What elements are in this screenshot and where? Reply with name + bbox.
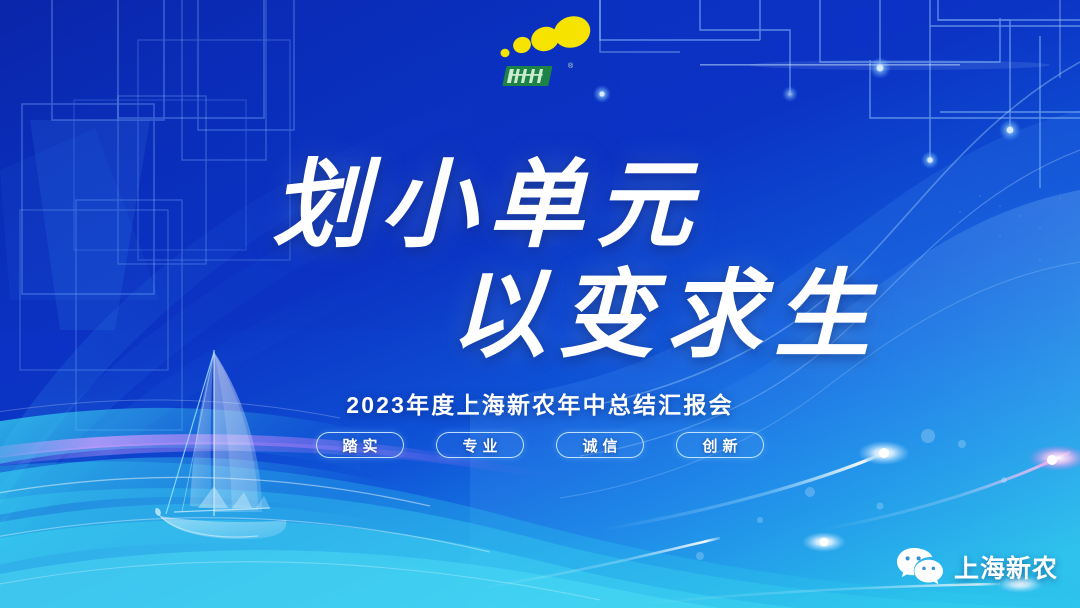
svg-text:®: ® xyxy=(568,62,574,70)
value-tag-3[interactable]: 创新 xyxy=(676,432,764,458)
value-tag-1[interactable]: 专业 xyxy=(436,432,524,458)
headline-line-1: 划小单元 xyxy=(272,158,704,254)
logo-wordmark: ® xyxy=(502,62,574,86)
event-subtitle: 2023年度上海新农年中总结汇报会 xyxy=(0,386,1080,420)
value-tag-0[interactable]: 踏实 xyxy=(316,432,404,458)
highlight-lines xyxy=(0,400,600,600)
wechat-account-footer[interactable]: 上海新农 xyxy=(895,546,1058,588)
shanghai-xinnong-logo: ® xyxy=(496,12,596,100)
logo-dots xyxy=(501,12,595,57)
wechat-account-name: 上海新农 xyxy=(954,549,1058,585)
value-tag-row: 踏实 专业 诚信 创新 xyxy=(0,432,1080,458)
headline-line-2: 以变求生 xyxy=(450,268,882,364)
poster-canvas: ® 划小单元 以变求生 2023年度上海新农年中总结汇报会 踏实 专业 诚信 创… xyxy=(0,0,1080,608)
headline-block: 划小单元 以变求生 xyxy=(0,142,1080,382)
wechat-icon xyxy=(895,546,945,588)
value-tag-2[interactable]: 诚信 xyxy=(556,432,644,458)
